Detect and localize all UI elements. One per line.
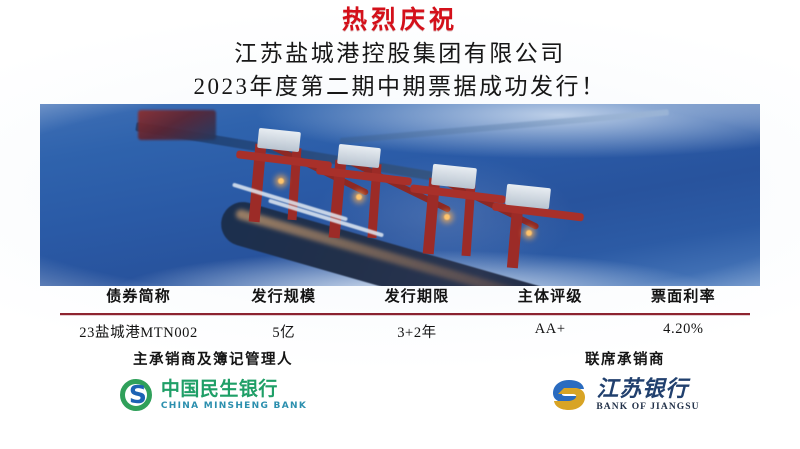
port-photo-image — [40, 104, 760, 286]
announcement-line: 2023年度第二期中期票据成功发行！ — [0, 74, 800, 100]
jiangsu-bank-logo: 江苏银行 BANK OF JIANGSU — [470, 378, 780, 413]
crane-machine-house-2 — [337, 144, 381, 168]
announcement-poster: 热烈庆祝 江苏盐城港控股集团有限公司 2023年度第二期中期票据成功发行！ — [0, 0, 800, 449]
lead-underwriter-block: 主承销商及簿记管理人 S 中国民生银行 CHINA MINSHENG BANK — [58, 348, 368, 412]
table-header-row: 债券简称 发行规模 发行期限 主体评级 票面利率 — [60, 282, 750, 313]
cell-issue-size: 5亿 — [217, 315, 350, 346]
minsheng-wordmark: 中国民生银行 CHINA MINSHENG BANK — [161, 380, 307, 411]
crane-machine-house-3 — [431, 164, 477, 189]
poster-header: 热烈庆祝 江苏盐城港控股集团有限公司 2023年度第二期中期票据成功发行！ — [0, 0, 800, 100]
lead-underwriter-label: 主承销商及簿记管理人 — [58, 348, 368, 369]
joint-underwriter-label: 联席承销商 — [470, 348, 780, 369]
cell-bond-name: 23盐城港MTN002 — [60, 315, 217, 346]
cell-coupon-rate: 4.20% — [617, 315, 750, 346]
deck-lamp-3 — [444, 214, 450, 220]
minsheng-emblem-icon: S — [119, 378, 153, 412]
minsheng-name-cn: 中国民生银行 — [161, 380, 307, 399]
column-header-issue-size: 发行规模 — [217, 282, 350, 313]
table-row: 23盐城港MTN002 5亿 3+2年 AA+ 4.20% — [60, 315, 750, 346]
minsheng-name-en: CHINA MINSHENG BANK — [161, 402, 307, 411]
crane-machine-house-4 — [505, 184, 551, 209]
underwriters-section: 主承销商及簿记管理人 S 中国民生银行 CHINA MINSHENG BANK … — [0, 348, 800, 448]
deck-lamp-1 — [278, 178, 284, 184]
crane-machine-house-1 — [257, 128, 301, 152]
jiangsu-name-cn: 江苏银行 — [596, 378, 699, 400]
deck-lamp-4 — [526, 230, 532, 236]
bond-details-table: 债券简称 发行规模 发行期限 主体评级 票面利率 23盐城港MTN002 5亿 … — [60, 282, 750, 346]
cell-issuer-rating: AA+ — [484, 315, 617, 346]
deck-lamp-2 — [356, 194, 362, 200]
column-header-coupon-rate: 票面利率 — [617, 282, 750, 313]
minsheng-s-glyph: S — [129, 382, 143, 408]
minsheng-bank-logo: S 中国民生银行 CHINA MINSHENG BANK — [58, 378, 368, 412]
jiangsu-emblem-icon — [550, 378, 588, 412]
celebration-title: 热烈庆祝 — [0, 7, 800, 33]
joint-underwriter-block: 联席承销商 江苏银行 BANK OF JIANGSU — [470, 348, 780, 413]
cell-issue-term: 3+2年 — [350, 315, 483, 346]
column-header-bond-name: 债券简称 — [60, 282, 217, 313]
port-photo — [40, 104, 760, 286]
far-jetty-haze — [340, 109, 669, 144]
jiangsu-wordmark: 江苏银行 BANK OF JIANGSU — [596, 378, 699, 413]
column-header-issue-term: 发行期限 — [350, 282, 483, 313]
jiangsu-name-en: BANK OF JIANGSU — [596, 403, 699, 413]
company-name: 江苏盐城港控股集团有限公司 — [0, 41, 800, 67]
column-header-issuer-rating: 主体评级 — [484, 282, 617, 313]
distant-crane-cluster — [138, 110, 216, 140]
